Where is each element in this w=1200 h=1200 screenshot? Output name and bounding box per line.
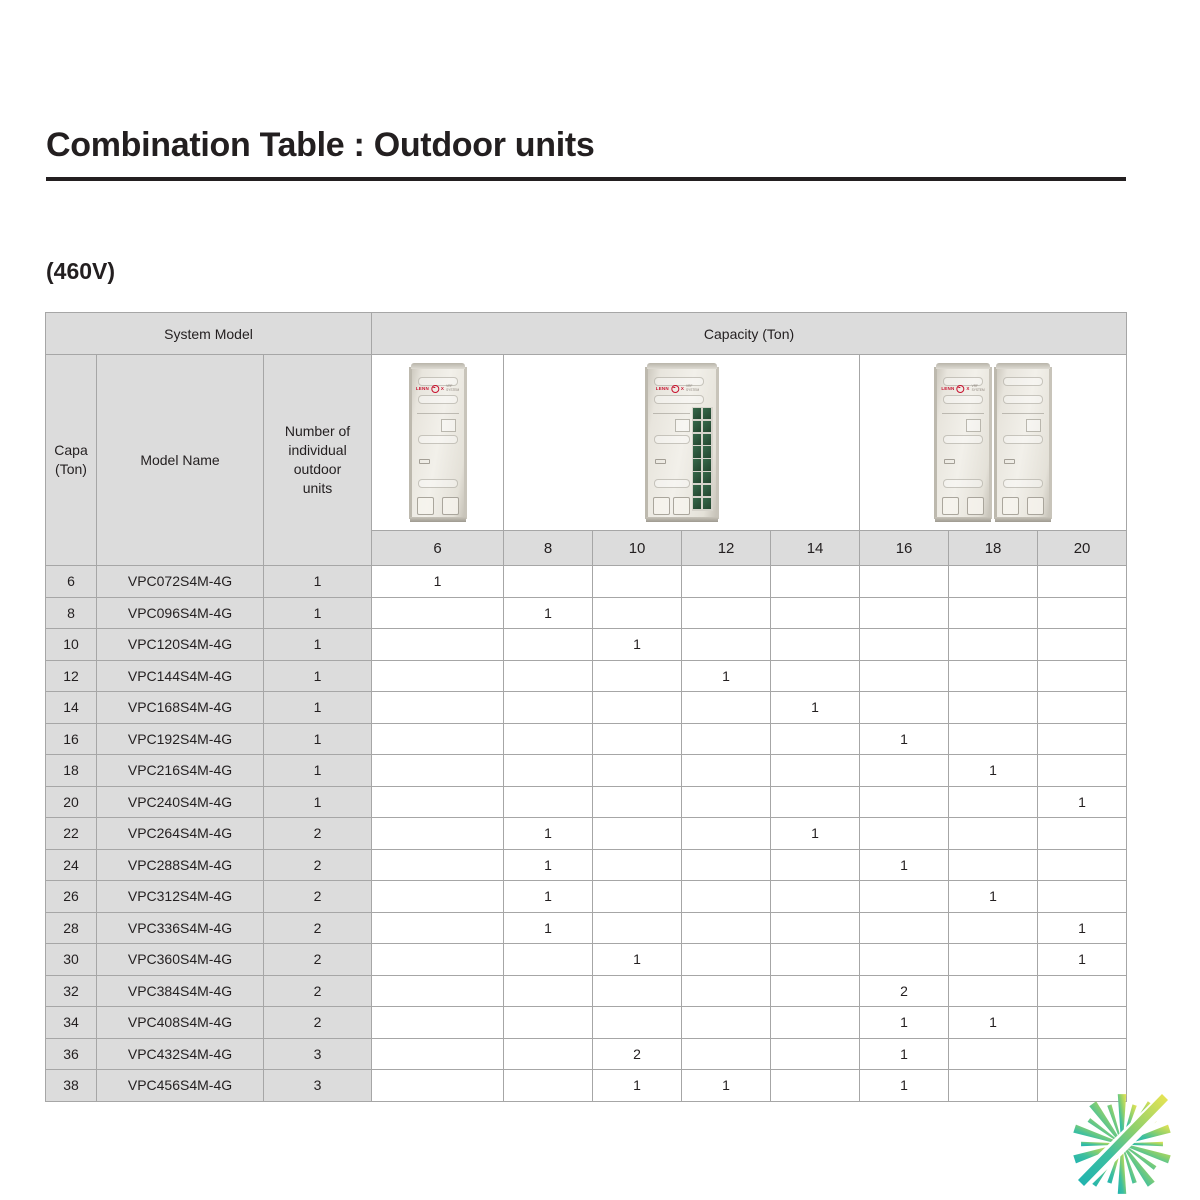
row-model-name: VPC288S4M-4G: [97, 849, 264, 881]
combination-cell-18ton: 1: [949, 1007, 1038, 1039]
unit-slot-icon: [1003, 395, 1043, 404]
header-capa-line1: Capa: [46, 441, 96, 460]
row-number-of-units: 1: [264, 786, 372, 818]
combination-cell-10ton: [593, 566, 682, 598]
combination-cell-20ton: [1038, 1038, 1127, 1070]
row-model-name: VPC216S4M-4G: [97, 755, 264, 787]
combination-cell-10ton: [593, 975, 682, 1007]
table-row: 16VPC192S4M-4G11: [46, 723, 1127, 755]
combination-cell-6ton: [372, 660, 504, 692]
combination-cell-14ton: 1: [771, 692, 860, 724]
combination-cell-8ton: 1: [504, 818, 593, 850]
combination-cell-8ton: [504, 944, 593, 976]
combination-cell-8ton: [504, 723, 593, 755]
unit-panel-icon: [675, 419, 690, 432]
row-model-name: VPC360S4M-4G: [97, 944, 264, 976]
row-capacity-ton: 28: [46, 912, 97, 944]
table-row: 14VPC168S4M-4G11: [46, 692, 1127, 724]
unit-foot-icon: [967, 497, 984, 515]
combination-cell-12ton: [682, 818, 771, 850]
sub-header-row: Capa (Ton) Model Name Number of individu…: [46, 355, 1127, 531]
combination-cell-10ton: [593, 786, 682, 818]
unit-stage-dual: LENNX VRFSYSTEM: [860, 355, 1126, 530]
combination-cell-16ton: [860, 786, 949, 818]
combination-cell-20ton: [1038, 881, 1127, 913]
outdoor-unit-image-6ton: LENNX VRFSYSTEM: [372, 355, 504, 531]
combination-cell-14ton: [771, 755, 860, 787]
row-number-of-units: 2: [264, 944, 372, 976]
row-capacity-ton: 8: [46, 597, 97, 629]
row-number-of-units: 3: [264, 1070, 372, 1102]
combination-cell-10ton: 2: [593, 1038, 682, 1070]
row-model-name: VPC384S4M-4G: [97, 975, 264, 1007]
row-number-of-units: 1: [264, 755, 372, 787]
combination-cell-16ton: 1: [860, 849, 949, 881]
combination-cell-18ton: [949, 944, 1038, 976]
combination-cell-20ton: [1038, 755, 1127, 787]
unit-slot-icon: [943, 435, 983, 444]
combination-cell-6ton: [372, 723, 504, 755]
combination-cell-10ton: [593, 755, 682, 787]
combination-cell-20ton: [1038, 660, 1127, 692]
combination-cell-14ton: [771, 881, 860, 913]
header-capacity-ton: Capacity (Ton): [372, 313, 1127, 355]
capacity-col-header-16: 16: [860, 531, 949, 566]
combination-cell-6ton: [372, 849, 504, 881]
combination-cell-8ton: 1: [504, 597, 593, 629]
table-body: 6VPC072S4M-4G118VPC096S4M-4G1110VPC120S4…: [46, 566, 1127, 1102]
unit-seam-icon: [417, 413, 459, 414]
combination-cell-8ton: 1: [504, 881, 593, 913]
combination-cell-14ton: [771, 975, 860, 1007]
combination-cell-18ton: [949, 629, 1038, 661]
row-number-of-units: 2: [264, 912, 372, 944]
combination-cell-10ton: [593, 660, 682, 692]
combination-cell-20ton: [1038, 975, 1127, 1007]
row-capacity-ton: 24: [46, 849, 97, 881]
row-model-name: VPC456S4M-4G: [97, 1070, 264, 1102]
combination-cell-10ton: [593, 597, 682, 629]
row-number-of-units: 1: [264, 597, 372, 629]
table-row: 18VPC216S4M-4G11: [46, 755, 1127, 787]
row-capacity-ton: 32: [46, 975, 97, 1007]
combination-cell-20ton: [1038, 723, 1127, 755]
table-row: 22VPC264S4M-4G211: [46, 818, 1127, 850]
combination-cell-18ton: [949, 818, 1038, 850]
combination-cell-6ton: [372, 1070, 504, 1102]
unit-slot-icon: [1003, 479, 1043, 488]
capacity-col-header-20: 20: [1038, 531, 1127, 566]
row-capacity-ton: 10: [46, 629, 97, 661]
combination-cell-6ton: [372, 597, 504, 629]
combination-cell-18ton: [949, 723, 1038, 755]
combination-cell-14ton: [771, 944, 860, 976]
unit-valve-cap-icon: [419, 459, 430, 464]
combination-cell-16ton: [860, 818, 949, 850]
row-number-of-units: 2: [264, 818, 372, 850]
combination-cell-18ton: [949, 912, 1038, 944]
unit-foot-icon: [942, 497, 959, 515]
row-model-name: VPC432S4M-4G: [97, 1038, 264, 1070]
row-model-name: VPC168S4M-4G: [97, 692, 264, 724]
capacity-col-header-8: 8: [504, 531, 593, 566]
combination-cell-12ton: [682, 912, 771, 944]
row-capacity-ton: 34: [46, 1007, 97, 1039]
table-head: System Model Capacity (Ton) Capa (Ton) M…: [46, 313, 1127, 566]
unit-slot-icon: [654, 395, 704, 404]
row-model-name: VPC312S4M-4G: [97, 881, 264, 913]
combination-cell-20ton: 1: [1038, 912, 1127, 944]
combination-cell-16ton: [860, 912, 949, 944]
combination-cell-18ton: [949, 786, 1038, 818]
combination-cell-18ton: [949, 692, 1038, 724]
combination-cell-10ton: [593, 912, 682, 944]
combination-cell-14ton: [771, 597, 860, 629]
row-number-of-units: 1: [264, 660, 372, 692]
combination-cell-10ton: [593, 1007, 682, 1039]
row-model-name: VPC240S4M-4G: [97, 786, 264, 818]
combination-cell-12ton: [682, 786, 771, 818]
combination-cell-8ton: [504, 692, 593, 724]
header-num-line4: units: [264, 479, 371, 498]
header-num-line2: individual: [264, 441, 371, 460]
combination-cell-12ton: [682, 629, 771, 661]
title-underline-rule: [46, 177, 1126, 181]
unit-base-icon: [995, 517, 1051, 522]
header-capa-line2: (Ton): [46, 460, 96, 479]
row-number-of-units: 1: [264, 723, 372, 755]
combination-cell-16ton: 1: [860, 1007, 949, 1039]
combination-cell-16ton: 1: [860, 1038, 949, 1070]
table-row: 30VPC360S4M-4G211: [46, 944, 1127, 976]
header-number-of-individual-outdoor-units: Number of individual outdoor units: [264, 355, 372, 566]
combination-cell-12ton: [682, 597, 771, 629]
row-capacity-ton: 20: [46, 786, 97, 818]
combination-cell-20ton: [1038, 597, 1127, 629]
row-model-name: VPC408S4M-4G: [97, 1007, 264, 1039]
combination-cell-12ton: [682, 849, 771, 881]
unit-foot-icon: [653, 497, 670, 515]
title-block: Combination Table : Outdoor units: [46, 126, 1126, 181]
unit-seam-icon: [1002, 413, 1044, 414]
combination-cell-12ton: [682, 692, 771, 724]
outdoor-unit-illustration: LENNX VRFSYSTEM: [645, 367, 719, 519]
unit-foot-icon: [442, 497, 459, 515]
lennox-brand-logo-icon: LENNX VRFSYSTEM: [941, 385, 984, 393]
combination-cell-14ton: [771, 660, 860, 692]
table-row: 36VPC432S4M-4G321: [46, 1038, 1127, 1070]
capacity-col-header-14: 14: [771, 531, 860, 566]
unit-stage-single-small: LENNX VRFSYSTEM: [372, 355, 503, 530]
combination-cell-18ton: [949, 597, 1038, 629]
combination-cell-8ton: [504, 1038, 593, 1070]
row-model-name: VPC120S4M-4G: [97, 629, 264, 661]
combination-table: System Model Capacity (Ton) Capa (Ton) M…: [45, 312, 1127, 1102]
combination-cell-20ton: [1038, 692, 1127, 724]
combination-cell-6ton: [372, 629, 504, 661]
table-row: 32VPC384S4M-4G22: [46, 975, 1127, 1007]
combination-cell-12ton: 1: [682, 1070, 771, 1102]
combination-cell-6ton: [372, 1038, 504, 1070]
header-model-name: Model Name: [97, 355, 264, 566]
combination-cell-14ton: [771, 786, 860, 818]
combination-cell-10ton: 1: [593, 629, 682, 661]
combination-cell-12ton: [682, 881, 771, 913]
unit-top-cap-icon: [936, 363, 990, 369]
row-number-of-units: 2: [264, 975, 372, 1007]
table-row: 12VPC144S4M-4G11: [46, 660, 1127, 692]
row-number-of-units: 2: [264, 881, 372, 913]
unit-slot-icon: [654, 479, 690, 488]
row-model-name: VPC072S4M-4G: [97, 566, 264, 598]
outdoor-unit-image-large: LENNX VRFSYSTEM: [504, 355, 860, 531]
row-capacity-ton: 14: [46, 692, 97, 724]
combination-cell-14ton: [771, 912, 860, 944]
combination-cell-8ton: [504, 755, 593, 787]
combination-cell-12ton: 1: [682, 660, 771, 692]
unit-top-cap-icon: [996, 363, 1050, 369]
combination-cell-8ton: [504, 1007, 593, 1039]
combination-cell-6ton: [372, 944, 504, 976]
row-number-of-units: 2: [264, 849, 372, 881]
row-number-of-units: 1: [264, 629, 372, 661]
unit-slot-icon: [654, 435, 690, 444]
combination-cell-8ton: [504, 629, 593, 661]
combination-cell-18ton: 1: [949, 881, 1038, 913]
combination-cell-12ton: [682, 1007, 771, 1039]
combination-cell-6ton: [372, 912, 504, 944]
combination-cell-8ton: 1: [504, 849, 593, 881]
row-model-name: VPC336S4M-4G: [97, 912, 264, 944]
unit-foot-icon: [673, 497, 690, 515]
row-capacity-ton: 26: [46, 881, 97, 913]
combination-cell-16ton: 1: [860, 723, 949, 755]
header-capa-ton: Capa (Ton): [46, 355, 97, 566]
combination-cell-16ton: [860, 597, 949, 629]
combination-cell-20ton: [1038, 818, 1127, 850]
unit-slot-icon: [943, 395, 983, 404]
lennox-brand-logo-icon: LENNX VRFSYSTEM: [416, 385, 459, 393]
combination-cell-20ton: [1038, 1007, 1127, 1039]
table-row: 6VPC072S4M-4G11: [46, 566, 1127, 598]
combination-cell-8ton: [504, 1070, 593, 1102]
table-row: 28VPC336S4M-4G211: [46, 912, 1127, 944]
row-number-of-units: 1: [264, 692, 372, 724]
unit-base-icon: [935, 517, 991, 522]
unit-slot-icon: [418, 395, 458, 404]
combination-cell-10ton: [593, 849, 682, 881]
row-number-of-units: 3: [264, 1038, 372, 1070]
combination-cell-6ton: [372, 1007, 504, 1039]
unit-base-icon: [646, 517, 718, 522]
outdoor-unit-illustration: [994, 367, 1052, 519]
row-model-name: VPC096S4M-4G: [97, 597, 264, 629]
unit-seam-icon: [653, 413, 690, 414]
row-number-of-units: 1: [264, 566, 372, 598]
header-system-model: System Model: [46, 313, 372, 355]
table-row: 10VPC120S4M-4G11: [46, 629, 1127, 661]
combination-cell-16ton: [860, 660, 949, 692]
unit-valve-cap-icon: [655, 459, 666, 464]
combination-cell-14ton: [771, 723, 860, 755]
unit-vent-grid-icon: [692, 407, 713, 511]
table-row: 34VPC408S4M-4G211: [46, 1007, 1127, 1039]
combination-cell-18ton: 1: [949, 755, 1038, 787]
outdoor-unit-image-dual: LENNX VRFSYSTEM: [860, 355, 1127, 531]
combination-cell-12ton: [682, 566, 771, 598]
combination-cell-16ton: [860, 944, 949, 976]
combination-cell-8ton: 1: [504, 912, 593, 944]
capacity-col-header-12: 12: [682, 531, 771, 566]
unit-panel-icon: [966, 419, 981, 432]
combination-cell-16ton: [860, 566, 949, 598]
page-root: Combination Table : Outdoor units (460V)…: [0, 0, 1200, 1200]
unit-slot-icon: [418, 479, 458, 488]
combination-cell-6ton: 1: [372, 566, 504, 598]
combination-cell-18ton: [949, 1070, 1038, 1102]
combination-cell-10ton: [593, 692, 682, 724]
unit-slot-icon: [943, 479, 983, 488]
combination-cell-16ton: 1: [860, 1070, 949, 1102]
combination-cell-20ton: [1038, 849, 1127, 881]
combination-cell-18ton: [949, 1038, 1038, 1070]
unit-panel-icon: [441, 419, 456, 432]
outdoor-unit-illustration: LENNX VRFSYSTEM: [934, 367, 992, 519]
combination-cell-16ton: [860, 881, 949, 913]
table-row: 38VPC456S4M-4G3111: [46, 1070, 1127, 1102]
unit-top-cap-icon: [647, 363, 717, 369]
row-model-name: VPC144S4M-4G: [97, 660, 264, 692]
unit-foot-icon: [1027, 497, 1044, 515]
combination-cell-10ton: [593, 881, 682, 913]
unit-valve-cap-icon: [944, 459, 955, 464]
combination-cell-6ton: [372, 692, 504, 724]
row-number-of-units: 2: [264, 1007, 372, 1039]
unit-slot-icon: [1003, 377, 1043, 386]
unit-base-icon: [410, 517, 466, 522]
combination-cell-14ton: [771, 629, 860, 661]
unit-slot-icon: [418, 435, 458, 444]
group-header-row: System Model Capacity (Ton): [46, 313, 1127, 355]
combination-cell-20ton: 1: [1038, 786, 1127, 818]
unit-panel-icon: [1026, 419, 1041, 432]
header-num-line3: outdoor: [264, 460, 371, 479]
combination-cell-10ton: 1: [593, 1070, 682, 1102]
header-num-line1: Number of: [264, 422, 371, 441]
combination-cell-12ton: [682, 944, 771, 976]
unit-top-cap-icon: [411, 363, 465, 369]
unit-seam-icon: [942, 413, 984, 414]
combination-cell-8ton: [504, 975, 593, 1007]
unit-valve-cap-icon: [1004, 459, 1015, 464]
page-title: Combination Table : Outdoor units: [46, 126, 1126, 165]
combination-cell-12ton: [682, 975, 771, 1007]
table-row: 26VPC312S4M-4G211: [46, 881, 1127, 913]
combination-cell-16ton: [860, 692, 949, 724]
row-model-name: VPC264S4M-4G: [97, 818, 264, 850]
lennox-brand-logo-icon: LENNX VRFSYSTEM: [656, 385, 699, 393]
combination-cell-6ton: [372, 818, 504, 850]
combination-cell-18ton: [949, 660, 1038, 692]
combination-cell-10ton: [593, 723, 682, 755]
unit-foot-icon: [417, 497, 434, 515]
combination-table-wrapper: System Model Capacity (Ton) Capa (Ton) M…: [45, 312, 1126, 1102]
unit-stage-single-large: LENNX VRFSYSTEM: [504, 355, 859, 530]
unit-slot-icon: [1003, 435, 1043, 444]
combination-cell-20ton: 1: [1038, 944, 1127, 976]
combination-cell-6ton: [372, 786, 504, 818]
combination-cell-6ton: [372, 881, 504, 913]
combination-cell-14ton: [771, 1070, 860, 1102]
table-row: 20VPC240S4M-4G11: [46, 786, 1127, 818]
combination-cell-20ton: [1038, 566, 1127, 598]
row-capacity-ton: 30: [46, 944, 97, 976]
table-row: 24VPC288S4M-4G211: [46, 849, 1127, 881]
row-capacity-ton: 12: [46, 660, 97, 692]
combination-cell-10ton: 1: [593, 944, 682, 976]
combination-cell-12ton: [682, 1038, 771, 1070]
combination-cell-8ton: [504, 786, 593, 818]
voltage-subtitle: (460V): [46, 258, 115, 285]
table-row: 8VPC096S4M-4G11: [46, 597, 1127, 629]
row-capacity-ton: 38: [46, 1070, 97, 1102]
combination-cell-14ton: [771, 849, 860, 881]
row-capacity-ton: 16: [46, 723, 97, 755]
row-capacity-ton: 18: [46, 755, 97, 787]
combination-cell-14ton: [771, 1007, 860, 1039]
combination-cell-16ton: [860, 755, 949, 787]
combination-cell-20ton: [1038, 629, 1127, 661]
combination-cell-8ton: [504, 660, 593, 692]
row-capacity-ton: 6: [46, 566, 97, 598]
combination-cell-14ton: [771, 1038, 860, 1070]
starburst-logo: [1066, 1092, 1178, 1196]
capacity-col-header-18: 18: [949, 531, 1038, 566]
capacity-col-header-10: 10: [593, 531, 682, 566]
combination-cell-14ton: [771, 566, 860, 598]
row-model-name: VPC192S4M-4G: [97, 723, 264, 755]
combination-cell-18ton: [949, 975, 1038, 1007]
unit-foot-icon: [1002, 497, 1019, 515]
combination-cell-8ton: [504, 566, 593, 598]
combination-cell-18ton: [949, 849, 1038, 881]
combination-cell-14ton: 1: [771, 818, 860, 850]
combination-cell-6ton: [372, 755, 504, 787]
row-capacity-ton: 22: [46, 818, 97, 850]
combination-cell-6ton: [372, 975, 504, 1007]
combination-cell-12ton: [682, 755, 771, 787]
outdoor-unit-illustration: LENNX VRFSYSTEM: [409, 367, 467, 519]
combination-cell-12ton: [682, 723, 771, 755]
row-capacity-ton: 36: [46, 1038, 97, 1070]
combination-cell-16ton: [860, 629, 949, 661]
combination-cell-10ton: [593, 818, 682, 850]
combination-cell-18ton: [949, 566, 1038, 598]
capacity-col-header-6: 6: [372, 531, 504, 566]
combination-cell-16ton: 2: [860, 975, 949, 1007]
